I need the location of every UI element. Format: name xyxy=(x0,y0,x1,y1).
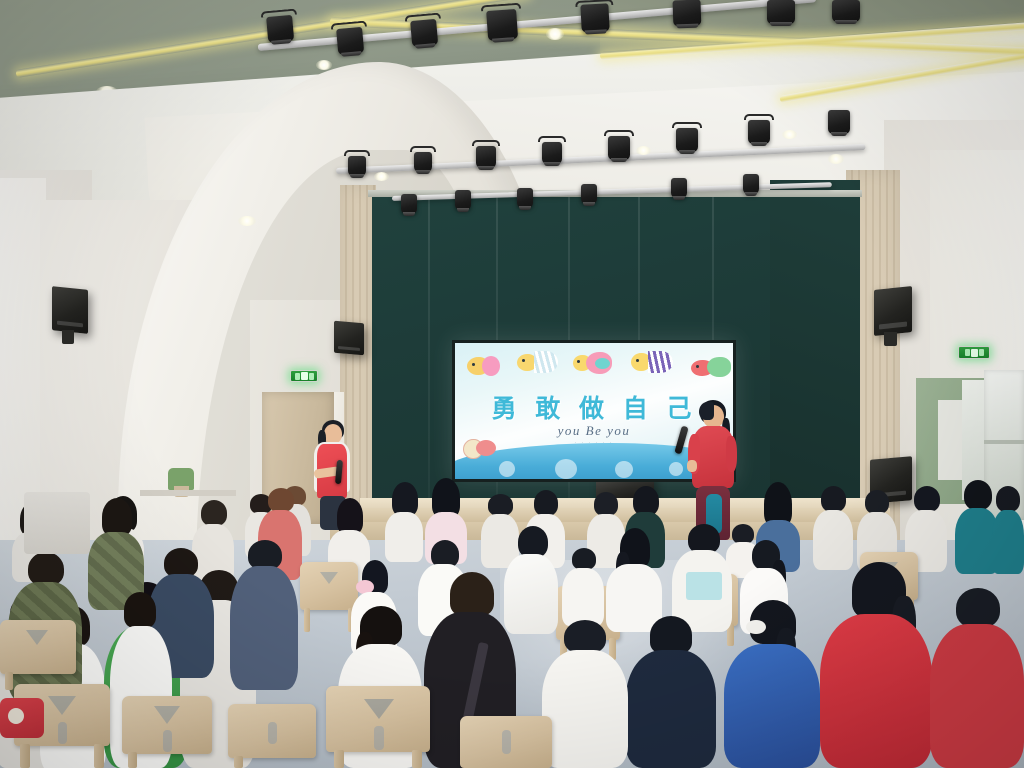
side-counter xyxy=(140,490,236,496)
stage-light xyxy=(410,146,436,172)
stage-light xyxy=(667,0,706,31)
stage-light xyxy=(331,20,370,57)
exit-text-glyph xyxy=(979,349,984,356)
speaker-mount xyxy=(62,330,74,344)
chair xyxy=(460,716,552,768)
stage-light xyxy=(405,12,444,49)
stage-light xyxy=(344,150,370,176)
audience-person xyxy=(542,620,628,768)
exit-running-man-icon xyxy=(301,372,308,380)
stage-light xyxy=(398,192,420,216)
auditorium-scene: 勇 敢 做 自 己 you Be you · · · · · · xyxy=(0,0,1024,768)
stage-backdrop-right xyxy=(770,180,860,516)
audience-person xyxy=(820,562,932,768)
chair xyxy=(0,620,76,690)
audience-person xyxy=(930,588,1024,768)
downlight-icon xyxy=(546,28,564,40)
downlight-icon xyxy=(374,172,389,181)
fish-yellow-striped-icon xyxy=(517,349,559,375)
stage-light xyxy=(472,140,500,168)
exit-text-glyph xyxy=(295,373,300,380)
fish-red-green-icon xyxy=(691,357,733,381)
audience-person xyxy=(230,540,298,690)
audience-person xyxy=(812,486,854,570)
chair xyxy=(326,686,430,768)
exit-sign-right xyxy=(958,346,990,359)
stage-light xyxy=(828,0,864,26)
stage-light xyxy=(514,186,536,210)
speaker-left-lower xyxy=(334,321,364,356)
bubble-icon xyxy=(555,459,577,479)
fish-pink-yellow-icon xyxy=(467,355,503,377)
speaker-right-upper xyxy=(874,286,912,336)
speaker-mount xyxy=(884,332,897,346)
fish-pink-teal-icon xyxy=(573,351,619,377)
red-bag xyxy=(0,698,44,738)
exit-text-glyph xyxy=(965,349,970,356)
hair-scrunchie-icon xyxy=(746,620,766,634)
downlight-icon xyxy=(828,154,844,164)
stage-light xyxy=(672,122,702,152)
downlight-icon xyxy=(238,216,256,226)
downlight-icon xyxy=(636,146,651,155)
downlight-icon xyxy=(316,60,332,70)
stage-light xyxy=(824,108,854,138)
bubble-icon xyxy=(615,461,633,478)
fish-yellow-purple-icon xyxy=(631,349,675,375)
exit-sign-left xyxy=(290,370,318,382)
stage-light xyxy=(740,172,762,196)
exit-running-man-icon xyxy=(971,349,978,357)
fish-bottom-left-icon xyxy=(463,437,499,461)
chair xyxy=(122,696,212,768)
white-equipment xyxy=(24,492,90,554)
bubble-icon xyxy=(669,462,683,476)
downlight-icon xyxy=(782,130,797,139)
stage-light xyxy=(538,136,566,164)
audience-child xyxy=(626,616,716,768)
chair xyxy=(228,704,316,768)
stage-light xyxy=(604,130,634,160)
stage-light xyxy=(261,8,300,45)
stage-light xyxy=(762,0,800,28)
stage-light xyxy=(668,176,690,200)
audience-child xyxy=(724,600,820,768)
audience-person xyxy=(992,486,1024,574)
window-rail xyxy=(984,440,1024,444)
stage-light xyxy=(744,114,774,144)
exit-text-glyph xyxy=(309,373,314,380)
stage-light xyxy=(578,182,600,206)
bubble-icon xyxy=(499,461,515,477)
stage-light xyxy=(481,3,524,44)
audience-child xyxy=(560,548,606,626)
speaker-left-upper xyxy=(52,286,88,334)
stage-light xyxy=(575,0,615,35)
stage-light xyxy=(452,188,474,212)
